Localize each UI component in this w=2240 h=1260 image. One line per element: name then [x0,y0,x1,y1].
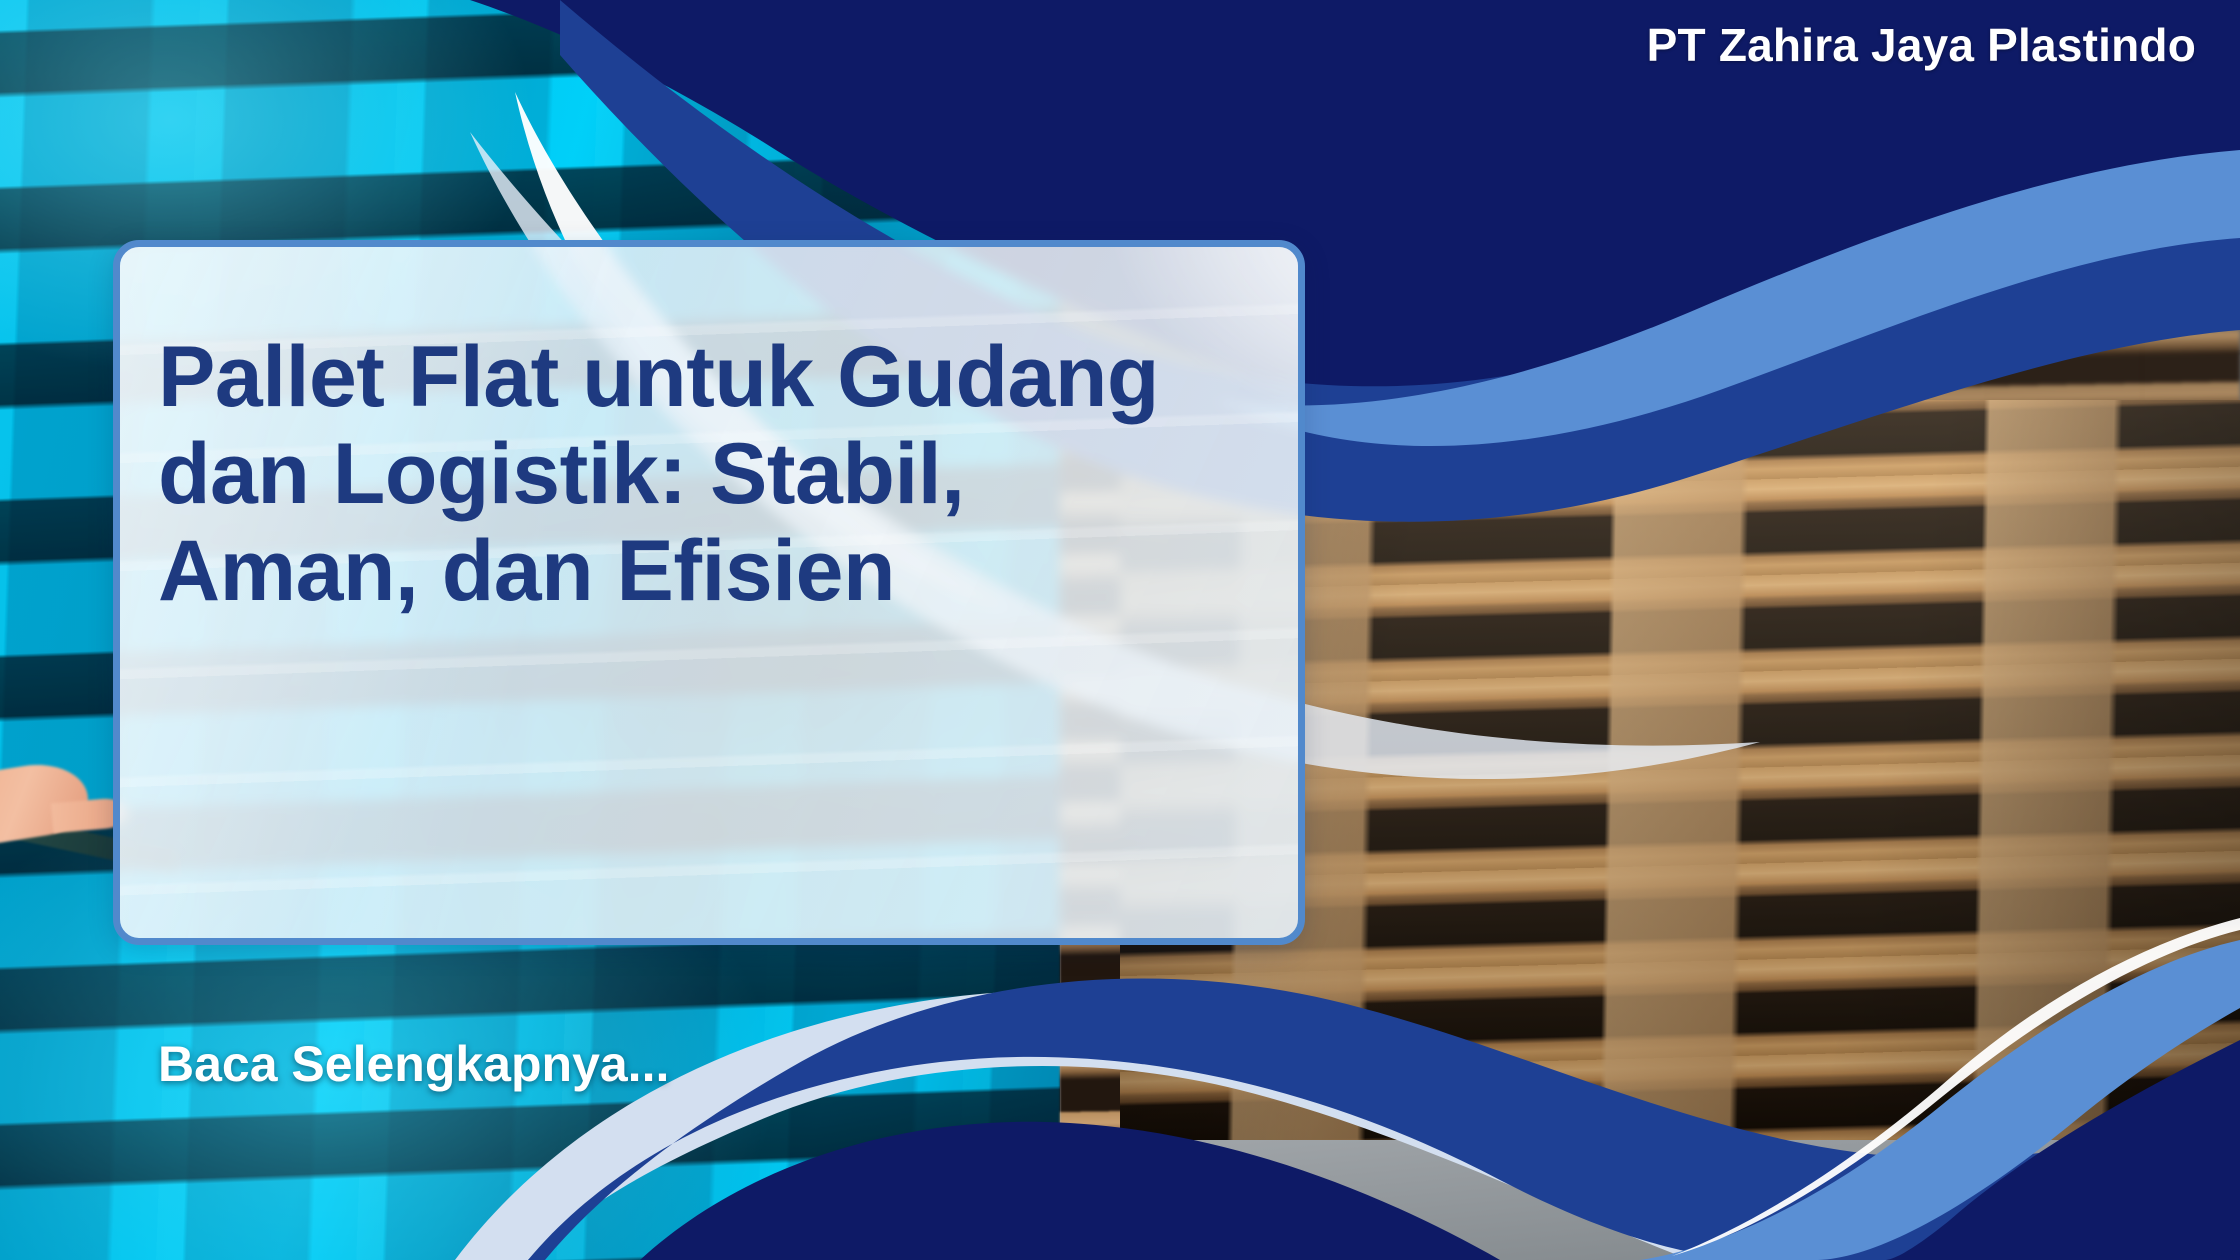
title-line-3: Aman, dan Efisien [158,523,895,619]
page-title: Pallet Flat untuk Gudang dan Logistik: S… [158,329,1268,621]
promo-banner: PT Zahira Jaya Plastindo Pallet Flat unt… [0,0,2240,1260]
read-more-link[interactable]: Baca Selengkapnya... [158,1035,669,1093]
wave-bottom-navy [640,1122,1500,1260]
title-card: Pallet Flat untuk Gudang dan Logistik: S… [113,240,1305,945]
title-line-2: dan Logistik: Stabil, [158,426,965,522]
title-line-1: Pallet Flat untuk Gudang [158,329,1159,425]
company-name: PT Zahira Jaya Plastindo [1647,18,2196,72]
